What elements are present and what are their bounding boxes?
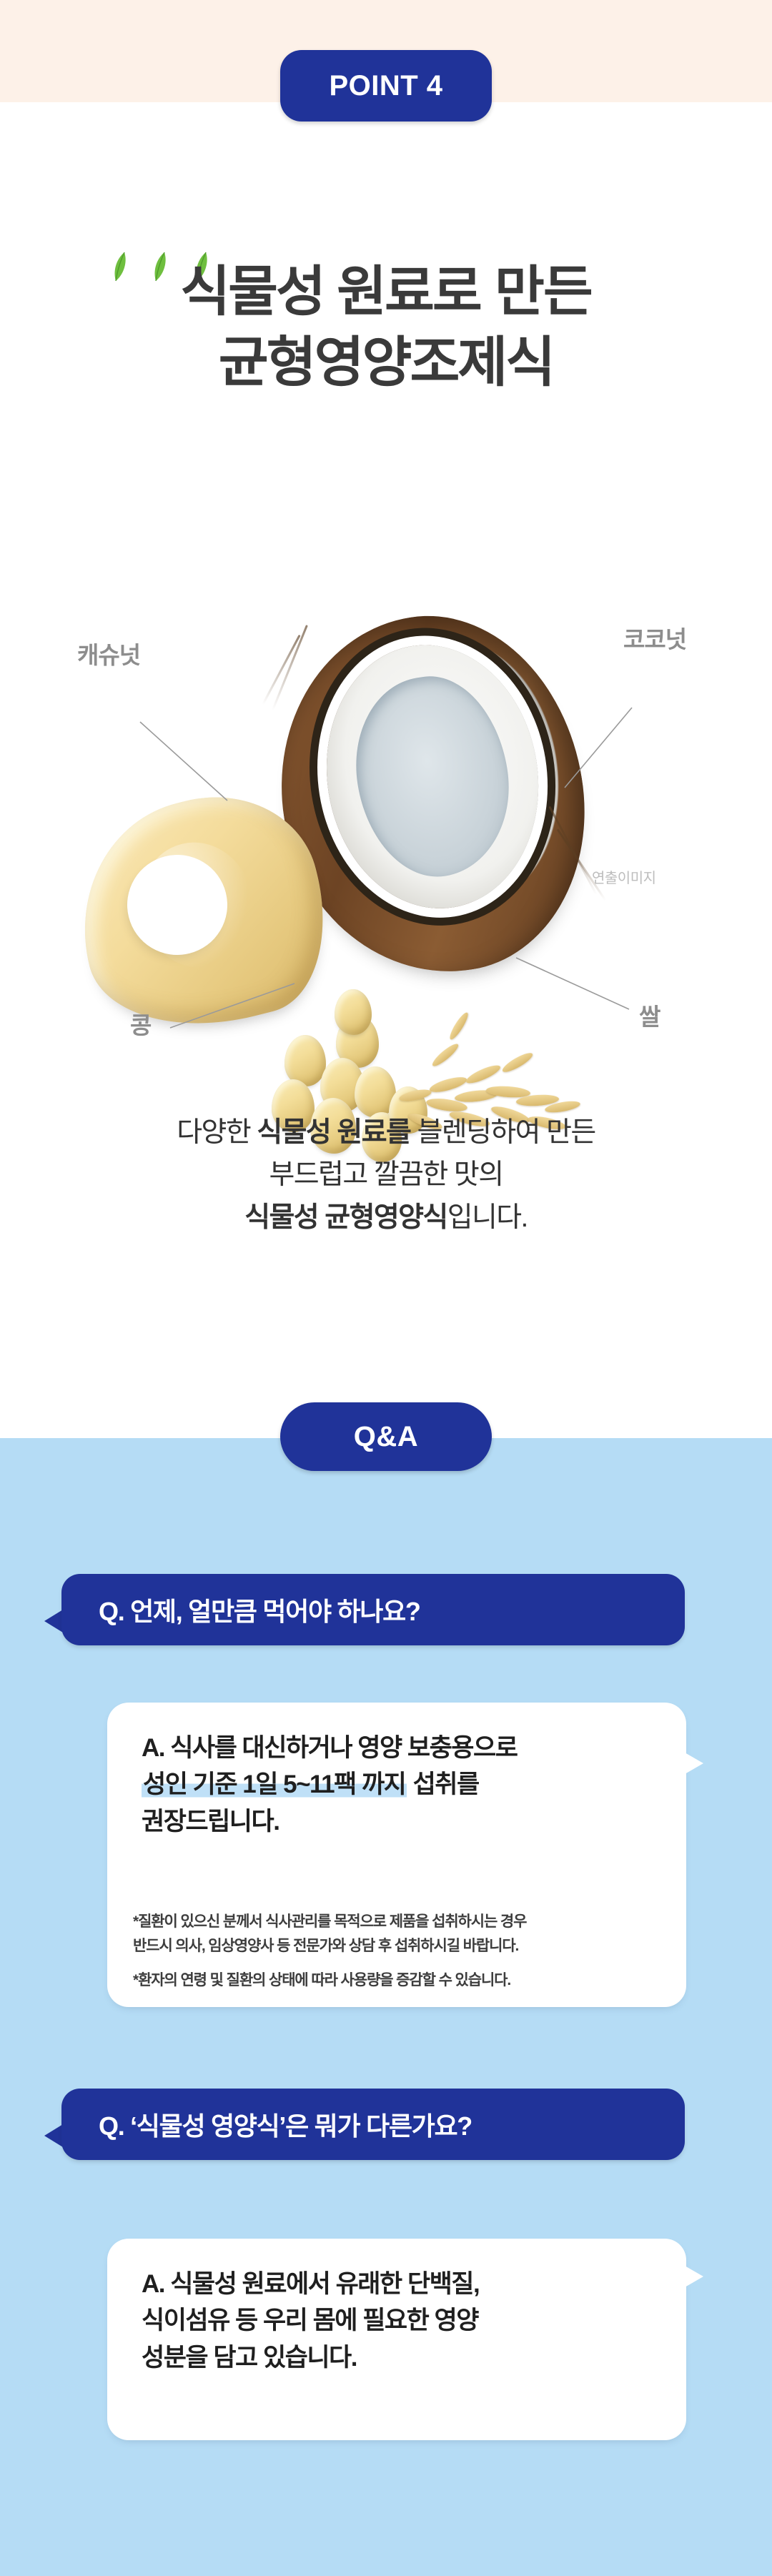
answer-line: 권장드립니다.: [142, 1803, 517, 1840]
page-title-emphasis: 식물성 원료: [180, 262, 432, 322]
description-line-3-emphasis: 식물성 균형영양식: [244, 1202, 447, 1233]
question-text-2: Q. ‘식물성 영양식’은 뭐가 다른가요?: [99, 2106, 472, 2143]
product-description: 다양한 식물성 원료를 블렌딩하여 만든 부드럽고 깔끔한 맛의 식물성 균형영…: [0, 1111, 772, 1239]
qa-badge: Q&A: [280, 1402, 492, 1471]
answer-bubble-tail-2: [685, 2266, 703, 2287]
question-bubble-1[interactable]: Q. 언제, 얼만큼 먹어야 하나요?: [61, 1574, 685, 1645]
answer-note: *질환이 있으신 분께서 식사관리를 목적으로 제품을 섭취하시는 경우: [133, 1910, 526, 1934]
description-line-1-post: 블렌딩하여 만든: [410, 1117, 595, 1148]
answer-line: 성분을 담고 있습니다.: [142, 2339, 479, 2376]
answer-line: 성인 기준 1일 5~11팩 까지 섭취를: [142, 1766, 517, 1803]
answer-notes-1: *질환이 있으신 분께서 식사관리를 목적으로 제품을 섭취하시는 경우 반드시…: [133, 1910, 526, 1993]
description-line-1: 다양한 식물성 원료를 블렌딩하여 만든: [0, 1111, 772, 1154]
page-title-line-1: 식물성 원료로 만든: [0, 257, 772, 328]
answer-line: A. 식물성 원료에서 유래한 단백질,: [142, 2266, 479, 2302]
answer-note: *환자의 연령 및 질환의 상태에 따라 사용량을 증감할 수 있습니다.: [133, 1968, 526, 1993]
description-line-1-emphasis: 식물성 원료를: [257, 1117, 410, 1148]
label-cashew: 캐슈넛: [77, 636, 140, 670]
description-line-2: 부드럽고 깔끔한 맛의: [0, 1154, 772, 1196]
answer-text-1: A. 식사를 대신하거나 영양 보충용으로 성인 기준 1일 5~11팩 까지 …: [142, 1730, 517, 1840]
page-title-line-1-rest: 로 만든: [432, 262, 592, 322]
description-line-1-pre: 다양한: [177, 1117, 257, 1148]
point-badge: POINT 4: [280, 50, 492, 122]
question-bubble-tail-2: [44, 2124, 63, 2147]
label-coconut: 코코넛: [623, 620, 686, 655]
page-title: 식물성 원료로 만든 균형영양조제식: [0, 257, 772, 399]
qa-badge-label: Q&A: [354, 1421, 418, 1453]
point-badge-label: POINT 4: [329, 70, 442, 102]
label-rice: 쌀: [639, 998, 660, 1032]
answer-line-post: 섭취를: [407, 1770, 478, 1798]
description-line-3-post: 입니다.: [447, 1202, 528, 1233]
staged-image-note: 연출이미지: [592, 866, 656, 887]
description-line-3: 식물성 균형영양식입니다.: [0, 1197, 772, 1239]
question-bubble-2[interactable]: Q. ‘식물성 영양식’은 뭐가 다른가요?: [61, 2089, 685, 2160]
label-soybean: 콩: [130, 1006, 151, 1041]
answer-note: 반드시 의사, 임상영양사 등 전문가와 상담 후 섭취하시길 바랍니다.: [133, 1934, 526, 1958]
question-text-1: Q. 언제, 얼만큼 먹어야 하나요?: [99, 1591, 420, 1628]
answer-highlight: 성인 기준 1일 5~11팩 까지: [142, 1770, 407, 1798]
answer-text-2: A. 식물성 원료에서 유래한 단백질, 식이섬유 등 우리 몸에 필요한 영양…: [142, 2266, 479, 2376]
answer-line: 식이섬유 등 우리 몸에 필요한 영양: [142, 2302, 479, 2339]
answer-line: A. 식사를 대신하거나 영양 보충용으로: [142, 1730, 517, 1766]
question-bubble-tail-1: [44, 1610, 63, 1633]
page-title-line-2: 균형영양조제식: [0, 328, 772, 399]
answer-bubble-tail-1: [685, 1753, 703, 1774]
